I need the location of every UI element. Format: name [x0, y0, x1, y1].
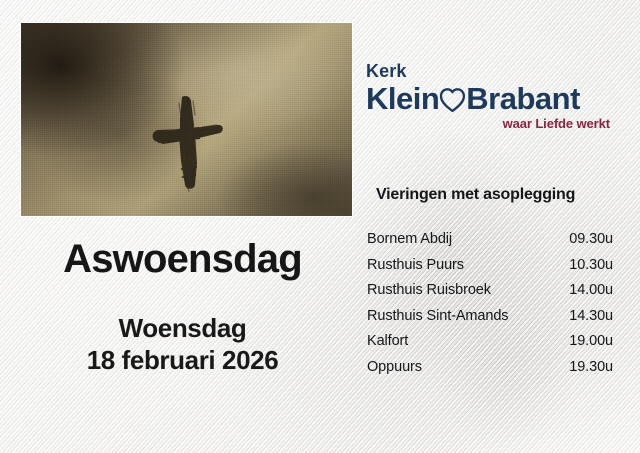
event-date-text: 18 februari 2026 [0, 345, 365, 377]
logo-main-line: Klein Brabant [366, 83, 611, 114]
service-place: Oppuurs [367, 359, 422, 375]
ash-cross-photo [21, 23, 352, 216]
services-list: Bornem Abdij 09.30u Rusthuis Puurs 10.30… [367, 231, 613, 384]
list-item: Kalfort 19.00u [367, 333, 613, 349]
service-place: Rusthuis Puurs [367, 257, 464, 273]
logo-kerk-klein-brabant: Kerk Klein Brabant waar Liefde werkt [366, 62, 611, 131]
list-item: Bornem Abdij 09.30u [367, 231, 613, 247]
service-time: 19.30u [569, 359, 613, 375]
list-item: Oppuurs 19.30u [367, 359, 613, 375]
logo-word-brabant: Brabant [466, 83, 580, 114]
service-time: 14.30u [569, 308, 613, 324]
service-time: 14.00u [569, 282, 613, 298]
service-place: Kalfort [367, 333, 408, 349]
list-item: Rusthuis Puurs 10.30u [367, 257, 613, 273]
service-time: 09.30u [569, 231, 613, 247]
heart-outline-icon [437, 84, 467, 114]
poster-canvas: Kerk Klein Brabant waar Liefde werkt Vie… [0, 0, 640, 453]
list-item: Rusthuis Ruisbroek 14.00u [367, 282, 613, 298]
event-weekday: Woensdag [0, 313, 365, 345]
logo-word-kerk: Kerk [366, 62, 611, 80]
service-place: Bornem Abdij [367, 231, 452, 247]
service-place: Rusthuis Ruisbroek [367, 282, 491, 298]
service-time: 19.00u [569, 333, 613, 349]
event-date: Woensdag 18 februari 2026 [0, 313, 365, 376]
logo-tagline: waar Liefde werkt [366, 116, 611, 131]
photo-grain-overlay [21, 23, 352, 216]
services-heading: Vieringen met asoplegging [376, 186, 575, 204]
service-place: Rusthuis Sint-Amands [367, 308, 508, 324]
list-item: Rusthuis Sint-Amands 14.30u [367, 308, 613, 324]
service-time: 10.30u [569, 257, 613, 273]
logo-word-klein: Klein [366, 83, 439, 114]
page-title: Aswoensdag [0, 239, 365, 279]
